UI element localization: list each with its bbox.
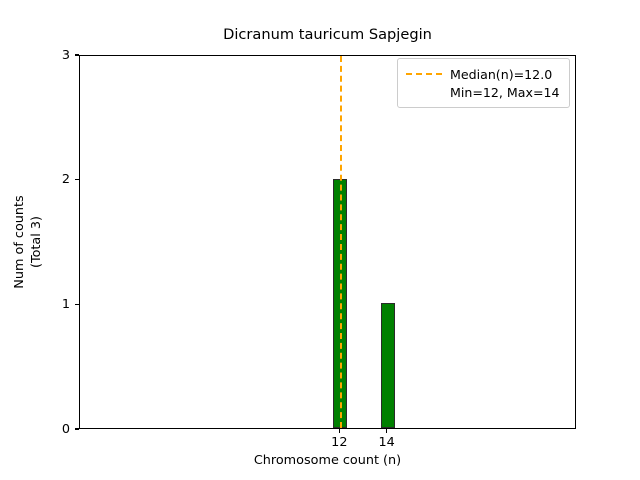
y-axis-label: Num of counts (Total 3) <box>11 195 45 288</box>
x-tick-label: 14 <box>357 435 417 451</box>
figure-canvas: Dicranum tauricum Sapjegin Num of counts… <box>0 0 640 480</box>
plot-inner <box>80 56 575 428</box>
y-tick-label: 3 <box>62 47 70 64</box>
legend-item-median: Median(n)=12.0 <box>406 65 561 83</box>
y-axis-label-line1: Num of counts <box>12 195 27 288</box>
y-axis-label-line2: (Total 3) <box>29 216 44 268</box>
x-tick-mark <box>386 429 387 433</box>
y-tick-mark <box>75 54 79 55</box>
y-tick-label: 2 <box>62 171 70 188</box>
median-line <box>340 56 342 428</box>
legend-label-median: Median(n)=12.0 <box>450 66 552 83</box>
plot-area <box>79 55 576 429</box>
y-tick-label: 0 <box>62 421 70 438</box>
bar-14[interactable] <box>381 303 395 428</box>
chart-legend: Median(n)=12.0 Min=12, Max=14 <box>397 58 570 108</box>
x-tick-mark <box>339 429 340 433</box>
y-tick-mark <box>75 428 79 429</box>
y-tick-mark <box>75 179 79 180</box>
legend-swatch-dashed-line-icon <box>406 73 442 75</box>
legend-label-minmax: Min=12, Max=14 <box>450 84 560 101</box>
y-axis-label-container: Num of counts (Total 3) <box>0 55 56 429</box>
y-tick-label: 1 <box>62 296 70 313</box>
y-tick-mark <box>75 304 79 305</box>
chart-title: Dicranum tauricum Sapjegin <box>79 26 576 44</box>
legend-item-minmax: Min=12, Max=14 <box>406 83 561 101</box>
x-axis-label: Chromosome count (n) <box>79 453 576 468</box>
